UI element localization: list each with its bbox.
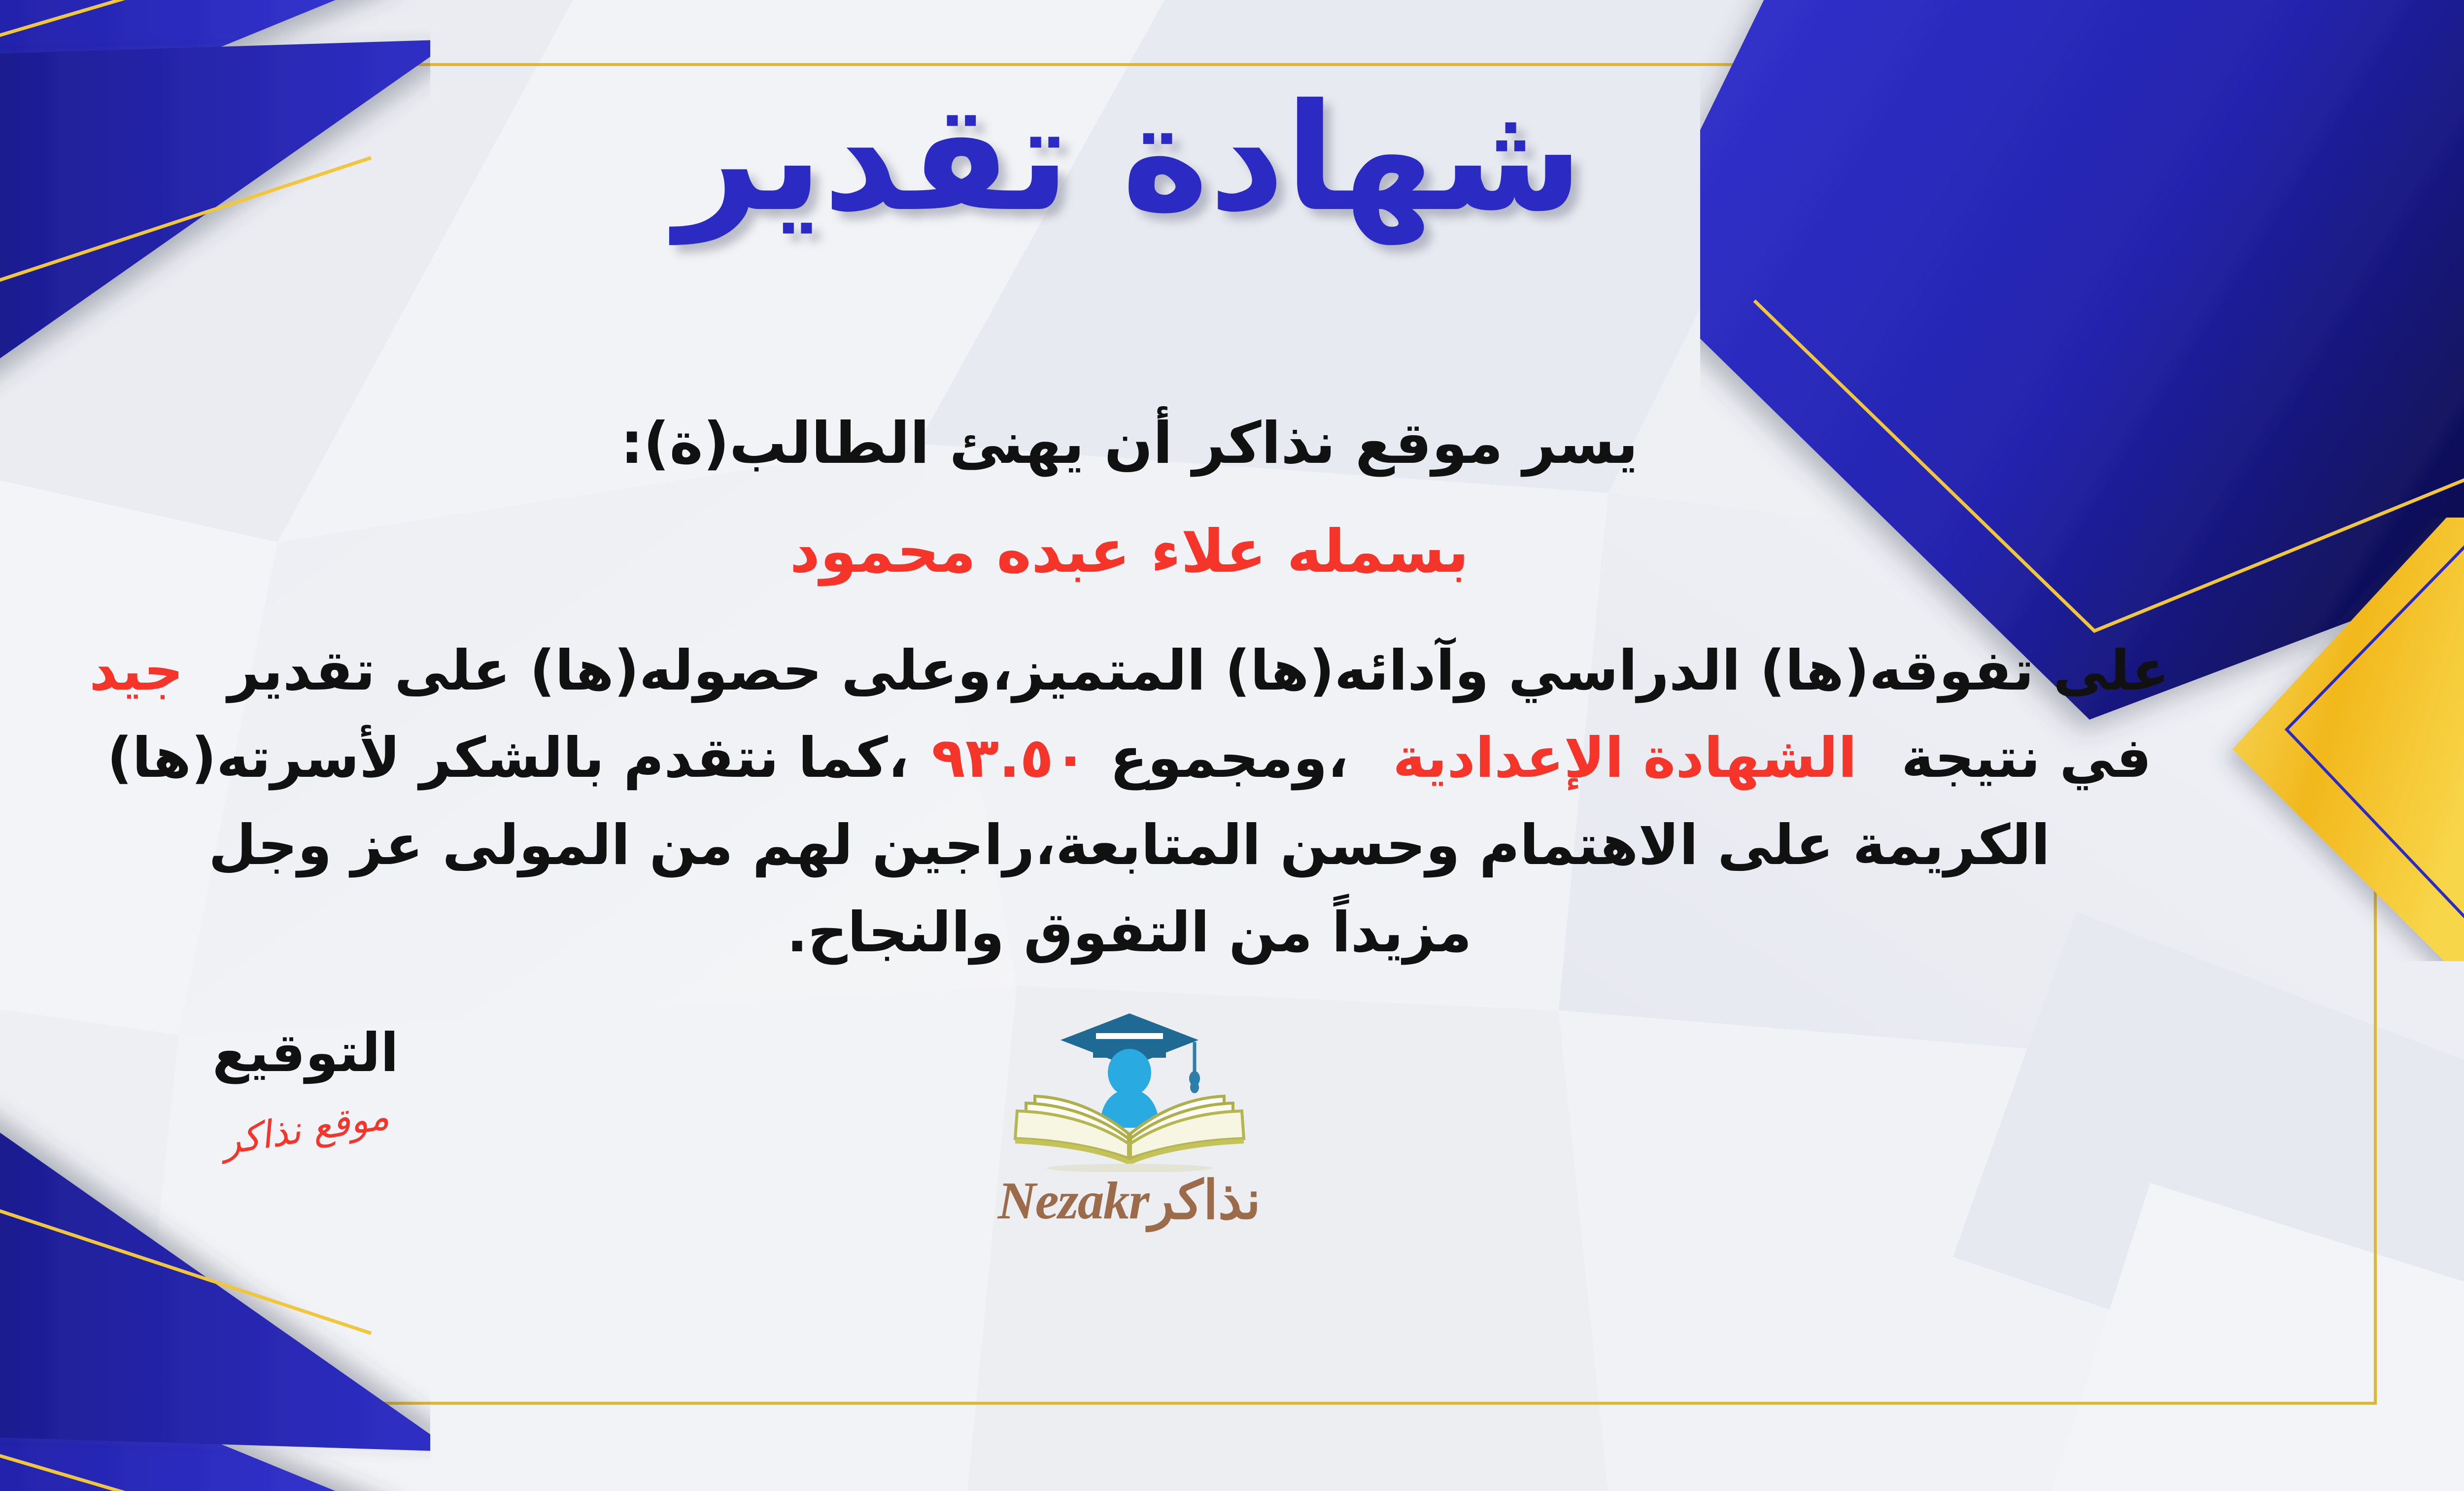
result-prefix: في نتيجة [1901,726,2152,790]
achievement-line-1: على تفوقه(ها) الدراسي وآدائه(ها) المتميز… [0,627,2377,715]
signature-block: التوقيع موقع نذاكر [187,1024,424,1150]
site-logo: نذاكرNezakr [918,1009,1341,1232]
total-score: ٩٣.٥٠ [931,726,1087,790]
page-title: شهادة تقدير [0,73,2377,243]
signature-label: التوقيع [187,1024,424,1083]
achievement-line-2: في نتيجةالشهادة الإعدادية،ومجموع٩٣.٥٠،كم… [0,715,2377,802]
exam-name: الشهادة الإعدادية [1393,726,1857,790]
logo-wordmark: نذاكرNezakr [918,1169,1341,1232]
intro-line: يسر موقع نذاكر أن يهنئ الطالب(ة): [0,398,2377,488]
certificate-body: يسر موقع نذاكر أن يهنئ الطالب(ة): بسمله … [0,398,2377,976]
signature-mark: موقع نذاكر [219,1094,392,1163]
logo-name-ar: نذاكر [1149,1169,1261,1231]
certificate-content: شهادة تقدير يسر موقع نذاكر أن يهنئ الطال… [0,63,2377,1405]
logo-name-en: Nezakr [998,1172,1149,1230]
achievement-line-4: مزيداً من التفوق والنجاح. [0,889,2377,976]
student-name: بسمله علاء عبده محمود [0,505,2377,599]
certificate-page: شهادة تقدير يسر موقع نذاكر أن يهنئ الطال… [0,0,2464,1491]
grade-value: جيد [89,639,183,703]
total-prefix: ،ومجموع [1110,726,1348,790]
achievement-text-a: على تفوقه(ها) الدراسي وآدائه(ها) المتميز… [228,639,2169,703]
thanks-text: ،كما نتقدم بالشكر لأسرته(ها) [107,726,909,790]
graduation-cap-open-book-icon [1001,1009,1258,1172]
achievement-line-3: الكريمة على الاهتمام وحسن المتابعة،راجين… [0,802,2377,889]
